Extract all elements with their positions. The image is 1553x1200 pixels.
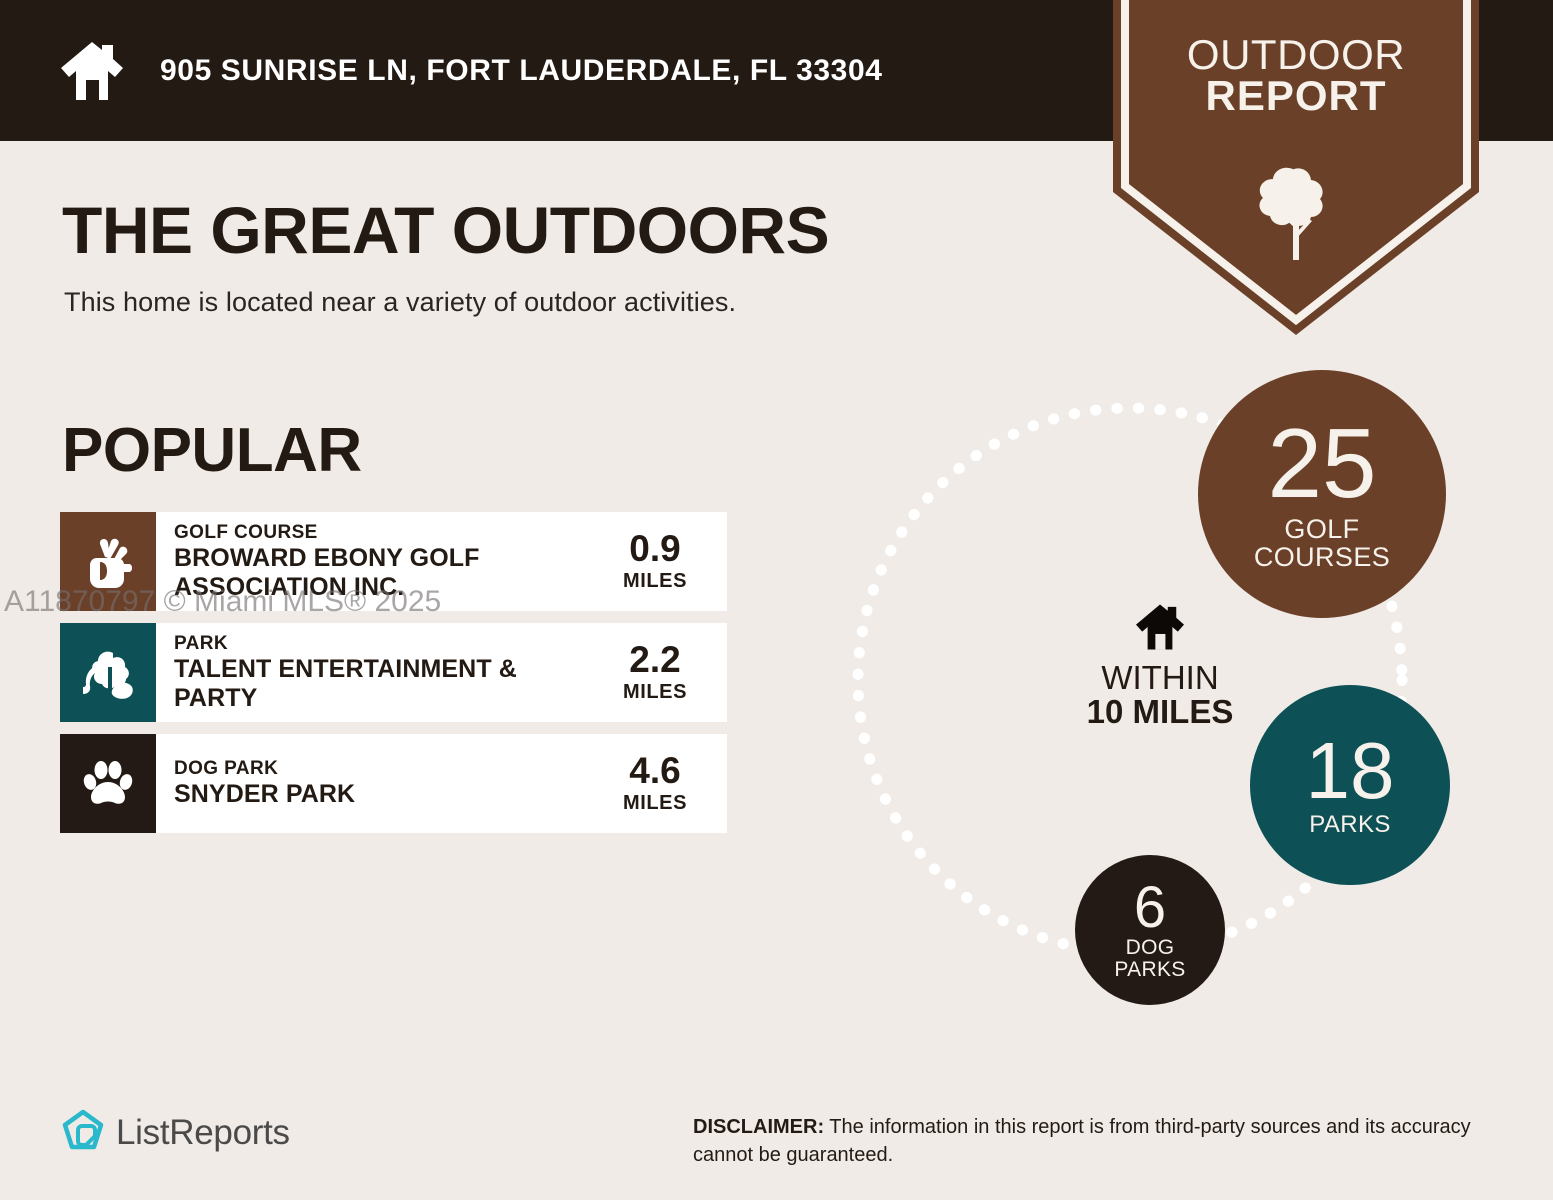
- disclaimer-label: DISCLAIMER:: [693, 1116, 824, 1138]
- property-address: 905 SUNRISE LN, FORT LAUDERDALE, FL 3330…: [160, 54, 883, 88]
- distance-value: 4.6: [629, 752, 680, 789]
- listreports-house-icon: [60, 1108, 106, 1158]
- golf-bag-icon: [82, 534, 134, 590]
- stat-label-line2: COURSES: [1254, 544, 1390, 572]
- list-item-name: TALENT ENTERTAINMENT & PARTY: [174, 655, 595, 712]
- list-item-text: GOLF COURSE BROWARD EBONY GOLF ASSOCIATI…: [156, 512, 595, 611]
- outdoor-report-page: 905 SUNRISE LN, FORT LAUDERDALE, FL 3330…: [0, 0, 1553, 1200]
- distance-unit: MILES: [623, 792, 687, 815]
- distance-unit: MILES: [623, 570, 687, 593]
- list-item-category: PARK: [174, 633, 595, 655]
- page-subtitle: This home is located near a variety of o…: [64, 287, 736, 318]
- badge-shape: [1113, 0, 1479, 335]
- within-10-miles-infographic: WITHIN 10 MILES 25 GOLF COURSES 18 PARKS…: [800, 350, 1500, 1070]
- list-item-distance: 2.2 MILES: [595, 623, 727, 722]
- stat-label-line1: GOLF: [1254, 516, 1390, 544]
- section-title-popular: POPULAR: [62, 415, 362, 486]
- stat-label-line1: PARKS: [1309, 813, 1391, 838]
- distance-unit: MILES: [623, 681, 687, 704]
- list-item-icon-box: [60, 623, 156, 722]
- stat-label: PARKS: [1309, 813, 1391, 838]
- stat-label-line2: PARKS: [1114, 959, 1185, 981]
- stat-value: 6: [1134, 880, 1166, 935]
- stat-value: 25: [1267, 417, 1376, 510]
- house-icon: [1132, 603, 1188, 651]
- page-title: THE GREAT OUTDOORS: [62, 192, 829, 268]
- popular-list: GOLF COURSE BROWARD EBONY GOLF ASSOCIATI…: [60, 512, 727, 845]
- stat-value: 18: [1306, 733, 1395, 809]
- list-item[interactable]: PARK TALENT ENTERTAINMENT & PARTY 2.2 MI…: [60, 623, 727, 722]
- stat-label-line1: DOG: [1114, 937, 1185, 959]
- park-tree-icon: [81, 646, 135, 700]
- stat-label: DOG PARKS: [1114, 937, 1185, 980]
- stat-label: GOLF COURSES: [1254, 516, 1390, 572]
- listreports-logo[interactable]: ListReports: [60, 1108, 290, 1158]
- list-item-name: BROWARD EBONY GOLF ASSOCIATION INC.: [174, 544, 595, 601]
- within-line2: 10 MILES: [1040, 695, 1280, 730]
- house-icon: [57, 40, 127, 102]
- stat-circle-golf-courses: 25 GOLF COURSES: [1198, 370, 1446, 618]
- list-item-distance: 4.6 MILES: [595, 734, 727, 833]
- distance-value: 0.9: [629, 530, 680, 567]
- list-item-name: SNYDER PARK: [174, 780, 595, 809]
- outdoor-report-badge: OUTDOOR REPORT: [1113, 0, 1479, 335]
- logo-text: ListReports: [116, 1113, 290, 1153]
- list-item[interactable]: GOLF COURSE BROWARD EBONY GOLF ASSOCIATI…: [60, 512, 727, 611]
- distance-value: 2.2: [629, 641, 680, 678]
- list-item[interactable]: DOG PARK SNYDER PARK 4.6 MILES: [60, 734, 727, 833]
- stat-circle-parks: 18 PARKS: [1250, 685, 1450, 885]
- list-item-category: GOLF COURSE: [174, 522, 595, 544]
- list-item-distance: 0.9 MILES: [595, 512, 727, 611]
- list-item-text: PARK TALENT ENTERTAINMENT & PARTY: [156, 623, 595, 722]
- within-label-group: WITHIN 10 MILES: [1040, 603, 1280, 730]
- list-item-category: DOG PARK: [174, 758, 595, 780]
- list-item-icon-box: [60, 734, 156, 833]
- list-item-icon-box: [60, 512, 156, 611]
- disclaimer: DISCLAIMER: The information in this repo…: [693, 1113, 1493, 1170]
- within-line1: WITHIN: [1040, 661, 1280, 695]
- stat-circle-dog-parks: 6 DOG PARKS: [1075, 855, 1225, 1005]
- paw-icon: [81, 757, 135, 811]
- list-item-text: DOG PARK SNYDER PARK: [156, 734, 595, 833]
